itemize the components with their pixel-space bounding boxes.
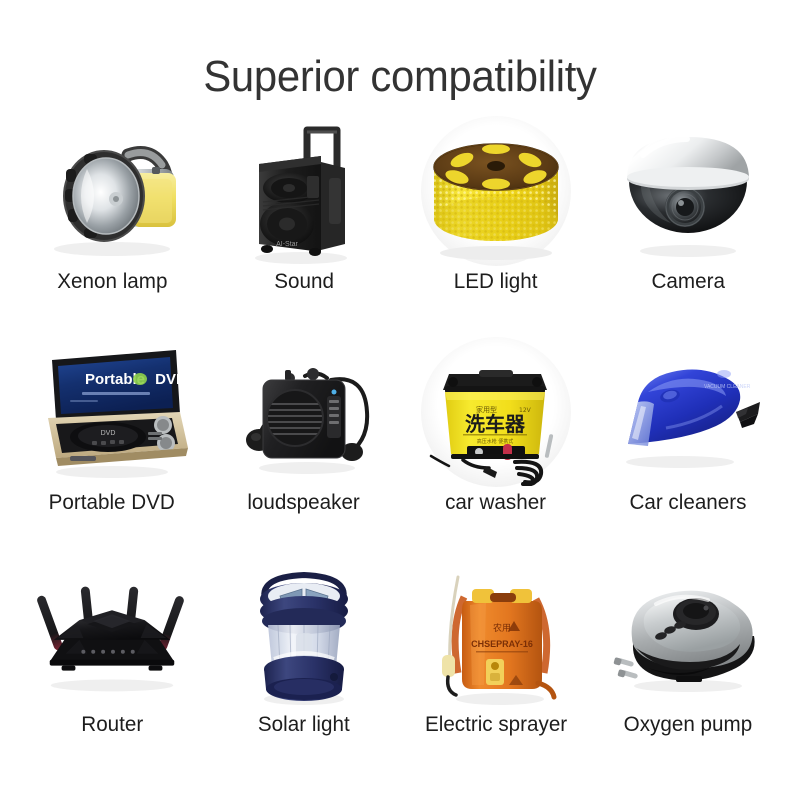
dome-camera-thumb (604, 116, 772, 266)
product-label: Solar light (258, 713, 350, 737)
svg-text:高压水枪 便携式: 高压水枪 便携式 (476, 438, 513, 445)
air-pump-thumb (604, 559, 772, 709)
product-label: Car cleaners (629, 491, 746, 515)
product-cell-car-washer[interactable]: 家用型 12V 洗车器 高压水枪 便携式 (400, 337, 592, 558)
backpack-sprayer-thumb: 农用 CHSEPRAY-16 (412, 559, 580, 709)
product-label: Camera (651, 270, 724, 294)
compatibility-infographic: Superior compatibility (0, 0, 800, 800)
page-title: Superior compatibility (20, 52, 780, 102)
portable-dvd-thumb: Portable DVD DVD (28, 337, 196, 487)
product-label: Electric sprayer (425, 713, 567, 737)
product-cell-electric-sprayer[interactable]: 农用 CHSEPRAY-16 Electric sprayer (400, 559, 592, 780)
product-label: Oxygen pump (624, 713, 753, 737)
solar-lantern-thumb (220, 559, 388, 709)
xenon-lamp-thumb (28, 116, 196, 266)
product-cell-led-light[interactable]: LED light (400, 116, 592, 337)
voice-amplifier-thumb (220, 337, 388, 487)
product-label: LED light (454, 270, 538, 294)
svg-text:AI-Star: AI-Star (276, 241, 298, 248)
product-label: Portable DVD (49, 491, 175, 515)
product-cell-sound[interactable]: AI-Star Sound (208, 116, 400, 337)
svg-text:DVD: DVD (155, 371, 187, 388)
svg-text:洗车器: 洗车器 (465, 412, 526, 436)
product-label: loudspeaker (248, 491, 360, 515)
product-cell-portable-dvd[interactable]: Portable DVD DVD (16, 337, 208, 558)
car-washer-thumb: 家用型 12V 洗车器 高压水枪 便携式 (412, 337, 580, 487)
product-label: Router (81, 713, 143, 737)
product-label: car washer (446, 491, 547, 515)
product-cell-xenon-lamp[interactable]: Xenon lamp (16, 116, 208, 337)
svg-text:VACUUM CLEANER: VACUUM CLEANER (704, 384, 751, 390)
led-strip-reel-thumb (412, 116, 580, 266)
product-cell-loudspeaker[interactable]: loudspeaker (208, 337, 400, 558)
svg-text:农用: 农用 (492, 622, 510, 634)
trolley-speaker-thumb: AI-Star (220, 116, 388, 266)
product-cell-solar-light[interactable]: Solar light (208, 559, 400, 780)
wifi-router-thumb (28, 559, 196, 709)
product-label: Xenon lamp (57, 270, 167, 294)
svg-text:CHSEPRAY-16: CHSEPRAY-16 (471, 639, 533, 649)
product-cell-camera[interactable]: Camera (592, 116, 784, 337)
svg-text:DVD: DVD (100, 430, 115, 437)
product-grid: Xenon lamp (0, 108, 800, 800)
product-cell-oxygen-pump[interactable]: Oxygen pump (592, 559, 784, 780)
product-label: Sound (274, 270, 334, 294)
product-cell-router[interactable]: Router (16, 559, 208, 780)
car-vacuum-thumb: VACUUM CLEANER (604, 337, 772, 487)
product-cell-car-cleaners[interactable]: VACUUM CLEANER Car cleaners (592, 337, 784, 558)
